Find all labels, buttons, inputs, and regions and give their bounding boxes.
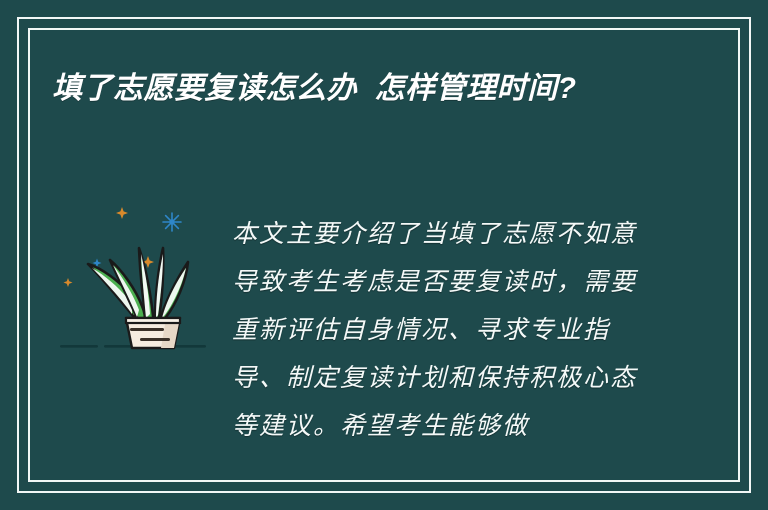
sparkle-blue-snowflake — [163, 213, 181, 231]
sparkle-orange-star-top — [116, 207, 128, 219]
sparkle-orange-small — [64, 278, 73, 287]
article-summary-text: 本文主要介绍了当填了志愿不如意导致考生考虑是否要复读时，需要重新评估自身情况、寻… — [232, 210, 660, 460]
potted-plant-illustration — [60, 190, 220, 370]
article-cover-card: 填了志愿要复读怎么办 怎样管理时间? — [0, 0, 768, 510]
flower-pot — [126, 318, 180, 348]
plant-leaves — [88, 248, 188, 321]
page-title: 填了志愿要复读怎么办 怎样管理时间? — [52, 64, 672, 114]
